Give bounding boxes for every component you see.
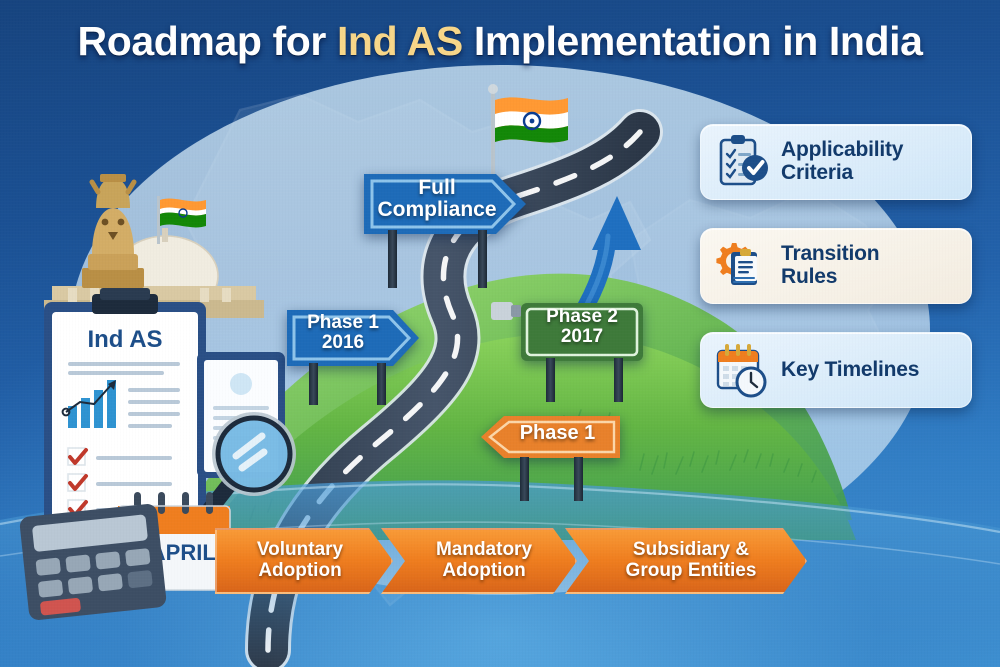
chevron-subsidiary-group-entities[interactable]: Subsidiary & Group Entities (565, 528, 807, 594)
card-label-line1: Applicability (781, 139, 903, 162)
sign-post (309, 363, 318, 405)
chevron-voluntary-adoption[interactable]: Voluntary Adoption (215, 528, 393, 594)
ashoka-lion-capital-icon (82, 174, 144, 288)
calculator-icon (18, 500, 168, 620)
chevron-mandatory-adoption[interactable]: Mandatory Adoption (381, 528, 577, 594)
phase-chevron-bar: Voluntary Adoption Mandatory Adoption Su… (215, 528, 795, 594)
sign-line2: 2017 (518, 327, 646, 347)
sign-phase-2-2017[interactable]: Phase 2 2017 (518, 300, 646, 364)
sign-line1: Phase 1 (293, 313, 393, 333)
card-label-line1: Transition (781, 243, 879, 266)
sign-full-compliance[interactable]: Full Compliance (360, 168, 530, 240)
chevron-line2: Adoption (442, 561, 525, 582)
card-applicability-criteria[interactable]: Applicability Criteria (700, 124, 972, 200)
title-part2: Implementation in India (463, 18, 923, 64)
sign-line1: Phase 1 (502, 423, 613, 444)
title-accent: Ind AS (337, 18, 463, 64)
card-label-line1: Key Timelines (781, 359, 919, 382)
sign-phase-1-2016[interactable]: Phase 1 2016 (283, 305, 423, 371)
chevron-line1: Mandatory (436, 540, 532, 561)
sign-line2: Compliance (374, 199, 500, 221)
chevron-line2: Adoption (258, 561, 341, 582)
clipboard-heading: Ind AS (40, 326, 210, 354)
page-title: Roadmap for Ind AS Implementation in Ind… (0, 18, 1000, 65)
feature-card-list: Applicability Criteria (700, 124, 972, 436)
sign-post (520, 457, 529, 501)
card-label-line2: Criteria (781, 162, 903, 185)
sign-line1: Phase 2 (518, 307, 646, 327)
clipboard-check-icon (713, 133, 771, 191)
card-label-line2: Rules (781, 266, 879, 289)
card-key-timelines[interactable]: Key Timelines (700, 332, 972, 408)
sign-post (388, 230, 397, 288)
sign-post (478, 230, 487, 288)
card-transition-rules[interactable]: Transition Rules (700, 228, 972, 304)
infographic-canvas: Ind AS 1 APRIL (0, 0, 1000, 667)
sign-post (546, 358, 555, 402)
sign-phase-1-orange[interactable]: Phase 1 (478, 413, 623, 461)
sign-post (377, 363, 386, 405)
sign-post (614, 358, 623, 402)
sign-post (574, 457, 583, 501)
sign-line2: 2016 (293, 333, 393, 353)
chevron-line1: Voluntary (257, 540, 343, 561)
gear-document-icon (713, 237, 771, 295)
sign-line1: Full (374, 177, 500, 199)
calendar-clock-icon (713, 341, 771, 399)
chevron-line2: Group Entities (626, 561, 757, 582)
title-part1: Roadmap for (77, 18, 336, 64)
chevron-line1: Subsidiary & (633, 540, 749, 561)
